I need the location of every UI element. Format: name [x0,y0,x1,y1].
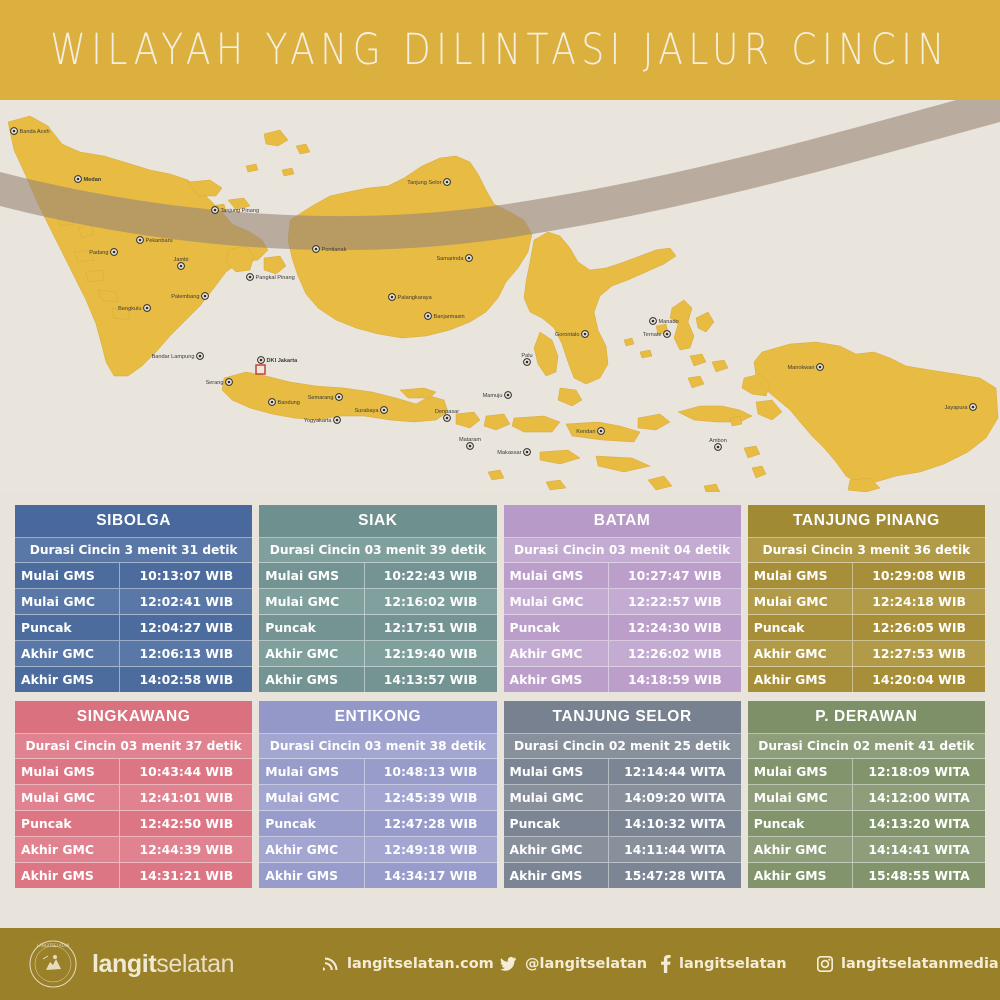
row-value: 12:45:39 WIB [364,785,497,810]
table-row: Akhir GMS15:48:55 WITA [748,863,985,888]
table-row: Puncak12:26:05 WIB [748,615,985,641]
row-label: Puncak [748,615,852,640]
city-label: Palembang [171,294,199,300]
row-value: 12:26:05 WIB [852,615,985,640]
card-subtitle: Durasi Cincin 3 menit 36 detik [748,538,985,563]
city-label: Denpasar [435,409,459,415]
row-label: Mulai GMS [504,563,608,588]
row-label: Puncak [15,615,119,640]
row-label: Akhir GMC [504,641,608,666]
table-row: Akhir GMC12:44:39 WIB [15,837,252,863]
social-website[interactable]: langitselatan.com [323,956,494,972]
city-label: Yogyakarta [304,418,333,424]
row-value: 14:11:44 WITA [608,837,741,862]
social-instagram[interactable]: langitselatanmedia [817,956,999,972]
city-label: Pangkal Pinang [256,275,295,281]
city-label: Kendari [576,429,595,435]
table-row: Puncak14:13:20 WITA [748,811,985,837]
card-batam: BATAMDurasi Cincin 03 menit 04 detikMula… [504,505,741,692]
table-row: Puncak12:04:27 WIB [15,615,252,641]
row-label: Mulai GMC [504,785,608,810]
row-label: Mulai GMC [504,589,608,614]
city-marker: Makassar [497,449,530,456]
table-row: Akhir GMS14:20:04 WIB [748,667,985,692]
card-p-derawan: P. DERAWANDurasi Cincin 02 menit 41 deti… [748,701,985,888]
row-label: Akhir GMS [259,863,363,888]
city-marker: Manado [650,318,679,325]
card-title: TANJUNG SELOR [504,701,741,734]
rss-icon [323,956,339,972]
row-value: 12:26:02 WIB [608,641,741,666]
card-siak: SIAKDurasi Cincin 03 menit 39 detikMulai… [259,505,496,692]
map-panel: Banda AcehMedanPekanbaruPadangJambiBengk… [0,100,1000,492]
card-subtitle: Durasi Cincin 02 menit 25 detik [504,734,741,759]
table-row: Mulai GMS10:48:13 WIB [259,759,496,785]
row-label: Akhir GMS [504,863,608,888]
city-timing-cards: SIBOLGADurasi Cincin 3 menit 31 detikMul… [0,505,1000,888]
table-row: Mulai GMS10:43:44 WIB [15,759,252,785]
row-label: Mulai GMS [259,563,363,588]
card-title: TANJUNG PINANG [748,505,985,538]
table-row: Akhir GMS15:47:28 WITA [504,863,741,888]
capital-marker [256,365,265,374]
city-label: Palu [521,353,532,359]
facebook-icon [660,955,671,973]
brand-light: selatan [156,950,234,978]
city-marker: Banda Aceh [11,128,50,135]
row-label: Mulai GMC [259,589,363,614]
row-value: 12:47:28 WIB [364,811,497,836]
city-marker: Jayapura [944,404,976,411]
row-value: 12:42:50 WIB [119,811,252,836]
city-label: Surabaya [355,408,380,414]
row-label: Mulai GMS [748,759,852,784]
city-label: Manokwari [787,365,814,371]
city-marker: Samarinda [436,255,472,262]
row-value: 10:22:43 WIB [364,563,497,588]
row-value: 12:24:18 WIB [852,589,985,614]
city-marker: Ternate [643,331,671,338]
city-marker: Gorontalo [555,331,588,338]
city-marker: Bengkulu [118,305,150,312]
table-row: Akhir GMS14:34:17 WIB [259,863,496,888]
row-label: Akhir GMC [259,641,363,666]
table-row: Mulai GMC14:12:00 WITA [748,785,985,811]
table-row: Akhir GMC14:11:44 WITA [504,837,741,863]
card-subtitle: Durasi Cincin 03 menit 38 detik [259,734,496,759]
row-label: Mulai GMS [748,563,852,588]
table-row: Mulai GMC14:09:20 WITA [504,785,741,811]
table-row: Akhir GMC12:27:53 WIB [748,641,985,667]
twitter-icon [500,956,517,972]
city-marker: Banjarmasin [425,313,465,320]
city-marker: Palembang [171,293,208,300]
city-label: Bandar Lampung [152,354,195,360]
city-label: Pekanbaru [146,238,173,244]
card-subtitle: Durasi Cincin 03 menit 37 detik [15,734,252,759]
city-label: Medan [84,177,102,183]
city-label: Samarinda [436,256,464,262]
row-label: Puncak [504,615,608,640]
brand-wordmark: langitselatan [92,950,234,979]
row-label: Akhir GMS [259,667,363,692]
city-label: Bengkulu [118,306,141,312]
row-value: 14:09:20 WITA [608,785,741,810]
city-marker: Manokwari [787,364,823,371]
card-title: P. DERAWAN [748,701,985,734]
row-value: 10:29:08 WIB [852,563,985,588]
city-marker: Semarang [308,394,343,401]
table-row: Puncak14:10:32 WITA [504,811,741,837]
header-banner: WILAYAH YANG DILINTASI JALUR CINCIN [0,0,1000,100]
row-label: Akhir GMS [748,667,852,692]
row-label: Mulai GMC [748,785,852,810]
row-value: 12:17:51 WIB [364,615,497,640]
row-label: Mulai GMS [15,563,119,588]
city-label: Gorontalo [555,332,580,338]
table-row: Akhir GMC12:19:40 WIB [259,641,496,667]
social-facebook-label: langitselatan [679,956,787,972]
city-label: DKI Jakarta [267,358,299,364]
city-label: Ambon [709,438,727,444]
card-subtitle: Durasi Cincin 03 menit 04 detik [504,538,741,563]
row-label: Akhir GMS [15,667,119,692]
row-value: 12:04:27 WIB [119,615,252,640]
table-row: Akhir GMS14:31:21 WIB [15,863,252,888]
city-label: Tanjung Pinang [221,208,260,214]
city-marker: Serang [205,379,232,386]
city-label: Bandung [278,400,300,406]
table-row: Mulai GMS12:18:09 WITA [748,759,985,785]
table-row: Mulai GMC12:41:01 WIB [15,785,252,811]
row-value: 12:27:53 WIB [852,641,985,666]
table-row: Mulai GMC12:02:41 WIB [15,589,252,615]
brand-bold: langit [92,950,156,978]
row-value: 12:18:09 WITA [852,759,985,784]
card-singkawang: SINGKAWANGDurasi Cincin 03 menit 37 deti… [15,701,252,888]
city-marker: Mamuju [483,392,512,399]
table-row: Mulai GMS10:27:47 WIB [504,563,741,589]
city-label: Jayapura [944,405,968,411]
table-row: Mulai GMC12:16:02 WIB [259,589,496,615]
city-label: Pontianak [322,247,347,253]
city-label: Mamuju [483,393,503,399]
row-value: 10:27:47 WIB [608,563,741,588]
row-label: Akhir GMS [504,667,608,692]
row-value: 10:43:44 WIB [119,759,252,784]
city-marker: Bandung [269,399,300,406]
table-row: Akhir GMS14:02:58 WIB [15,667,252,692]
card-title: ENTIKONG [259,701,496,734]
row-label: Akhir GMS [15,863,119,888]
table-row: Akhir GMC12:06:13 WIB [15,641,252,667]
row-label: Akhir GMC [748,641,852,666]
row-value: 12:14:44 WITA [608,759,741,784]
row-label: Puncak [748,811,852,836]
row-label: Mulai GMC [259,785,363,810]
row-value: 12:19:40 WIB [364,641,497,666]
card-title: SIAK [259,505,496,538]
card-title: BATAM [504,505,741,538]
city-label: Padang [89,250,108,256]
city-label: Palangkaraya [398,295,433,301]
row-value: 14:13:20 WITA [852,811,985,836]
row-value: 15:48:55 WITA [852,863,985,888]
city-label: Manado [659,319,679,325]
infographic-page: WILAYAH YANG DILINTASI JALUR CINCIN [0,0,1000,1000]
row-label: Akhir GMC [504,837,608,862]
table-row: Mulai GMC12:24:18 WIB [748,589,985,615]
city-marker: Pontianak [313,246,347,253]
card-tanjung-pinang: TANJUNG PINANGDurasi Cincin 3 menit 36 d… [748,505,985,692]
row-label: Akhir GMC [15,837,119,862]
row-label: Puncak [15,811,119,836]
table-row: Mulai GMS10:29:08 WIB [748,563,985,589]
langitselatan-seal-logo: LANGITSELATAN [28,939,78,989]
row-label: Puncak [504,811,608,836]
table-row: Mulai GMS10:22:43 WIB [259,563,496,589]
table-row: Akhir GMS14:13:57 WIB [259,667,496,692]
table-row: Akhir GMC12:49:18 WIB [259,837,496,863]
city-label: Ternate [643,332,662,338]
row-label: Mulai GMS [15,759,119,784]
row-value: 12:16:02 WIB [364,589,497,614]
row-value: 12:49:18 WIB [364,837,497,862]
row-value: 12:06:13 WIB [119,641,252,666]
card-tanjung-selor: TANJUNG SELORDurasi Cincin 02 menit 25 d… [504,701,741,888]
city-marker: Padang [89,249,117,256]
card-subtitle: Durasi Cincin 3 menit 31 detik [15,538,252,563]
row-label: Mulai GMS [259,759,363,784]
card-subtitle: Durasi Cincin 02 menit 41 detik [748,734,985,759]
page-title: WILAYAH YANG DILINTASI JALUR CINCIN [50,26,950,74]
table-row: Mulai GMC12:22:57 WIB [504,589,741,615]
row-label: Mulai GMC [15,589,119,614]
city-label: Banda Aceh [20,129,50,135]
row-label: Puncak [259,811,363,836]
city-marker: Surabaya [355,407,388,414]
row-value: 14:13:57 WIB [364,667,497,692]
row-label: Akhir GMC [748,837,852,862]
row-label: Mulai GMC [748,589,852,614]
row-value: 14:18:59 WIB [608,667,741,692]
social-facebook[interactable]: langitselatan [660,955,787,973]
city-marker: Medan [75,176,102,183]
city-label: Mataram [459,437,481,443]
table-row: Puncak12:17:51 WIB [259,615,496,641]
table-row: Puncak12:47:28 WIB [259,811,496,837]
row-value: 14:14:41 WITA [852,837,985,862]
city-label: Semarang [308,395,334,401]
row-value: 14:12:00 WITA [852,785,985,810]
city-label: Tanjung Selor [407,180,441,186]
city-label: Makassar [497,450,521,456]
card-entikong: ENTIKONGDurasi Cincin 03 menit 38 detikM… [259,701,496,888]
table-row: Mulai GMC12:45:39 WIB [259,785,496,811]
city-label: Serang [205,380,223,386]
table-row: Akhir GMS14:18:59 WIB [504,667,741,692]
row-value: 12:44:39 WIB [119,837,252,862]
row-value: 12:41:01 WIB [119,785,252,810]
city-marker: Pekanbaru [137,237,173,244]
card-title: SINGKAWANG [15,701,252,734]
row-label: Akhir GMC [15,641,119,666]
card-sibolga: SIBOLGADurasi Cincin 3 menit 31 detikMul… [15,505,252,692]
social-instagram-label: langitselatanmedia [841,956,999,972]
seal-text: LANGITSELATAN [37,943,69,948]
row-value: 14:10:32 WITA [608,811,741,836]
row-value: 12:22:57 WIB [608,589,741,614]
instagram-icon [817,956,833,972]
row-label: Mulai GMS [504,759,608,784]
row-value: 14:34:17 WIB [364,863,497,888]
row-value: 10:13:07 WIB [119,563,252,588]
brand-block: LANGITSELATAN langitselatan [28,939,234,989]
footer-bar: LANGITSELATAN langitselatan langitselata… [0,928,1000,1000]
card-subtitle: Durasi Cincin 03 menit 39 detik [259,538,496,563]
social-website-label: langitselatan.com [347,956,494,972]
row-label: Akhir GMS [748,863,852,888]
row-value: 14:20:04 WIB [852,667,985,692]
row-value: 10:48:13 WIB [364,759,497,784]
row-label: Puncak [259,615,363,640]
row-label: Akhir GMC [259,837,363,862]
city-label: Jambi [174,257,189,263]
city-marker: Kendari [576,428,604,435]
table-row: Puncak12:42:50 WIB [15,811,252,837]
city-label: Banjarmasin [434,314,465,320]
row-value: 15:47:28 WITA [608,863,741,888]
card-title: SIBOLGA [15,505,252,538]
row-value: 14:31:21 WIB [119,863,252,888]
table-row: Puncak12:24:30 WIB [504,615,741,641]
table-row: Akhir GMC14:14:41 WITA [748,837,985,863]
table-row: Mulai GMS12:14:44 WITA [504,759,741,785]
row-label: Mulai GMC [15,785,119,810]
indonesia-map: Banda AcehMedanPekanbaruPadangJambiBengk… [0,100,1000,492]
social-twitter[interactable]: @langitselatan [500,956,647,972]
table-row: Akhir GMC12:26:02 WIB [504,641,741,667]
table-row: Mulai GMS10:13:07 WIB [15,563,252,589]
row-value: 14:02:58 WIB [119,667,252,692]
row-value: 12:24:30 WIB [608,615,741,640]
social-twitter-label: @langitselatan [525,956,647,972]
row-value: 12:02:41 WIB [119,589,252,614]
city-marker: Yogyakarta [304,417,341,424]
